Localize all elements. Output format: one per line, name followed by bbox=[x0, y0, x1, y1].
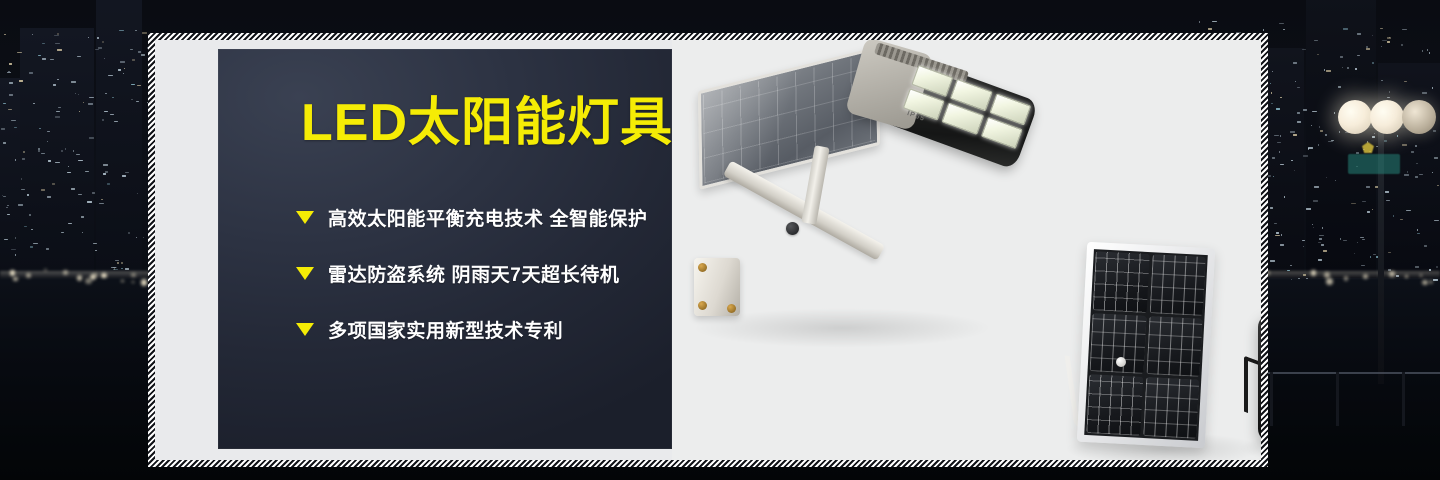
building-window bbox=[1320, 130, 1323, 132]
building-window bbox=[1427, 49, 1428, 51]
building-window bbox=[1401, 44, 1403, 46]
building-window bbox=[138, 51, 141, 53]
building-window bbox=[1272, 157, 1275, 159]
building-window bbox=[141, 54, 145, 56]
shoreline-light bbox=[44, 269, 46, 271]
building-window bbox=[68, 166, 69, 167]
building-window bbox=[1263, 29, 1264, 31]
building-window bbox=[39, 128, 41, 129]
building-window bbox=[108, 75, 113, 76]
building-window bbox=[1303, 274, 1306, 276]
triangle-down-icon bbox=[296, 267, 314, 280]
building-window bbox=[1291, 279, 1292, 280]
bullet-text: 高效太阳能平衡充电技术 全智能保护 bbox=[328, 204, 647, 231]
shoreline-light bbox=[1326, 278, 1333, 285]
building-window bbox=[92, 192, 95, 194]
building-window bbox=[78, 160, 83, 161]
building-window bbox=[1297, 112, 1300, 114]
feature-bullet-list: 高效太阳能平衡充电技术 全智能保护 雷达防盗系统 阴雨天7天超长待机 多项国家实… bbox=[296, 204, 656, 372]
building-window bbox=[38, 55, 41, 56]
product-stage: IP65 bbox=[672, 40, 1261, 460]
building-window bbox=[89, 137, 94, 139]
building-window bbox=[1313, 227, 1314, 228]
building-window bbox=[130, 49, 133, 50]
building-window bbox=[9, 63, 12, 65]
bullet-text: 多项国家实用新型技术专利 bbox=[328, 316, 563, 343]
lamp-globe-icon bbox=[1370, 100, 1404, 134]
building-window bbox=[1319, 126, 1320, 128]
street-light-head: IP65 bbox=[849, 42, 1039, 170]
building-window bbox=[17, 52, 22, 53]
skyline-tower bbox=[20, 28, 94, 278]
building-window bbox=[98, 47, 102, 49]
shoreline-light bbox=[10, 270, 15, 275]
building-window bbox=[88, 103, 93, 105]
building-window bbox=[137, 85, 141, 86]
building-window bbox=[1297, 121, 1301, 123]
building-window bbox=[1380, 28, 1383, 29]
shoreline-light bbox=[101, 273, 106, 278]
floodlight-housing: Solar light 100W IP67 bbox=[1258, 314, 1261, 442]
building-window bbox=[78, 94, 79, 95]
building-window bbox=[115, 260, 119, 261]
building-window bbox=[9, 94, 13, 96]
building-window bbox=[125, 172, 129, 173]
building-window bbox=[1281, 234, 1282, 236]
building-window bbox=[3, 103, 6, 104]
building-window bbox=[71, 188, 75, 190]
bracket-bolt bbox=[727, 304, 736, 313]
building-window bbox=[1268, 175, 1271, 177]
building-window bbox=[1275, 235, 1280, 236]
building-window bbox=[1280, 164, 1284, 165]
panel-hinge bbox=[1116, 357, 1126, 367]
radar-sensor-icon bbox=[786, 222, 799, 235]
building-window bbox=[1270, 260, 1275, 262]
building-window bbox=[1347, 67, 1349, 69]
solar-cell-block bbox=[1146, 316, 1202, 377]
wall-mount-bracket bbox=[694, 258, 740, 316]
building-window bbox=[1422, 50, 1423, 52]
building-window bbox=[1387, 37, 1391, 39]
building-window bbox=[1314, 186, 1319, 188]
building-window bbox=[1357, 33, 1361, 35]
building-window bbox=[53, 84, 56, 86]
building-window bbox=[102, 41, 104, 43]
building-window bbox=[1208, 28, 1212, 30]
building-window bbox=[55, 43, 60, 44]
building-window bbox=[1312, 111, 1317, 112]
building-window bbox=[131, 84, 135, 85]
lamp-globe-icon bbox=[1338, 100, 1372, 134]
building-window bbox=[23, 151, 25, 153]
product-solar-street-light: IP65 bbox=[690, 62, 1020, 332]
headline-panel: LED太阳能灯具 高效太阳能平衡充电技术 全智能保护 雷达防盗系统 阴雨天7天超… bbox=[218, 49, 672, 449]
building-window bbox=[1, 128, 5, 130]
building-window bbox=[102, 119, 104, 121]
building-window bbox=[29, 214, 31, 216]
building-window bbox=[1402, 29, 1407, 30]
building-window bbox=[1303, 109, 1307, 111]
building-window bbox=[8, 109, 12, 110]
building-window bbox=[27, 194, 29, 196]
building-window bbox=[1311, 125, 1312, 126]
building-window bbox=[113, 269, 118, 270]
building-window bbox=[1387, 41, 1390, 43]
page-title: LED太阳能灯具 bbox=[301, 97, 673, 149]
building-window bbox=[1294, 170, 1295, 171]
building-window bbox=[120, 61, 125, 63]
building-window bbox=[87, 201, 92, 203]
building-window bbox=[89, 97, 94, 98]
solar-cell-block bbox=[1093, 251, 1149, 312]
building-window bbox=[1343, 28, 1348, 30]
building-window bbox=[67, 172, 71, 173]
shoreline-light bbox=[141, 279, 148, 286]
building-window bbox=[9, 82, 13, 84]
building-window bbox=[124, 68, 125, 69]
lamp-globe-icon bbox=[1402, 100, 1436, 134]
building-window bbox=[1318, 259, 1322, 261]
building-window bbox=[61, 150, 63, 152]
building-window bbox=[1381, 46, 1382, 47]
building-window bbox=[7, 205, 9, 206]
building-window bbox=[1290, 131, 1295, 133]
building-window bbox=[1340, 56, 1343, 58]
building-window bbox=[1372, 35, 1373, 36]
shoreline-light bbox=[13, 277, 18, 282]
building-window bbox=[33, 103, 35, 104]
building-window bbox=[82, 232, 83, 233]
solar-cell-block bbox=[1149, 254, 1205, 315]
street-lamp-post bbox=[1336, 84, 1440, 384]
building-window bbox=[79, 111, 80, 112]
product-floodlight: Solar light 100W IP67 bbox=[1244, 308, 1261, 453]
railing-post bbox=[1336, 372, 1339, 426]
building-window bbox=[1366, 48, 1370, 50]
building-window bbox=[1321, 244, 1324, 246]
building-window bbox=[114, 121, 118, 122]
building-window bbox=[132, 59, 135, 61]
building-window bbox=[1272, 71, 1273, 72]
building-window bbox=[47, 196, 51, 198]
triangle-down-icon bbox=[296, 211, 314, 224]
street-light-solar-panel bbox=[698, 46, 880, 190]
building-window bbox=[54, 35, 59, 36]
building-window bbox=[1274, 135, 1279, 136]
railing-post bbox=[1402, 372, 1405, 426]
distant-billboard bbox=[1348, 154, 1400, 174]
hatched-border-frame: LED太阳能灯具 高效太阳能平衡充电技术 全智能保护 雷达防盗系统 阴雨天7天超… bbox=[148, 33, 1268, 467]
building-window bbox=[1280, 97, 1282, 98]
product-solar-panel bbox=[1064, 245, 1254, 460]
building-window bbox=[57, 49, 62, 51]
bracket-bolt bbox=[698, 263, 707, 272]
building-window bbox=[41, 189, 45, 191]
building-window bbox=[97, 37, 99, 39]
building-window bbox=[1326, 177, 1327, 178]
building-window bbox=[1280, 244, 1284, 246]
building-window bbox=[41, 153, 45, 154]
building-window bbox=[1271, 103, 1273, 104]
building-window bbox=[107, 183, 110, 185]
building-window bbox=[1212, 21, 1217, 22]
shoreline-light bbox=[63, 270, 68, 275]
bullet-text: 雷达防盗系统 阴雨天7天超长待机 bbox=[328, 260, 619, 287]
building-window bbox=[38, 150, 40, 152]
building-window bbox=[65, 148, 66, 150]
building-window bbox=[1325, 134, 1327, 136]
building-window bbox=[1382, 40, 1387, 41]
building-window bbox=[85, 171, 89, 172]
solar-cell-block bbox=[1086, 374, 1142, 435]
building-window bbox=[83, 102, 84, 103]
building-window bbox=[30, 246, 33, 248]
bracket-bolt bbox=[698, 301, 707, 310]
building-window bbox=[142, 32, 147, 34]
building-window bbox=[1199, 21, 1200, 23]
building-window bbox=[4, 34, 6, 35]
building-window bbox=[121, 262, 123, 264]
building-window bbox=[1293, 62, 1297, 64]
building-window bbox=[11, 120, 16, 121]
list-item: 多项国家实用新型技术专利 bbox=[296, 316, 656, 343]
building-window bbox=[1381, 80, 1383, 81]
building-window bbox=[1429, 52, 1430, 54]
building-window bbox=[11, 249, 16, 250]
building-window bbox=[1279, 23, 1284, 24]
building-window bbox=[1303, 155, 1308, 157]
building-window bbox=[103, 173, 106, 175]
building-window bbox=[1293, 134, 1297, 136]
building-window bbox=[143, 237, 144, 238]
building-window bbox=[1404, 81, 1407, 82]
railing-post bbox=[1270, 372, 1273, 426]
building-window bbox=[118, 69, 121, 71]
frame-inner-surface: LED太阳能灯具 高效太阳能平衡充电技术 全智能保护 雷达防盗系统 阴雨天7天超… bbox=[155, 40, 1261, 460]
building-window bbox=[1313, 200, 1318, 202]
building-window bbox=[48, 160, 51, 162]
building-window bbox=[1323, 250, 1327, 252]
building-window bbox=[57, 79, 59, 80]
building-window bbox=[1306, 208, 1311, 210]
building-window bbox=[1280, 135, 1281, 137]
building-window bbox=[1319, 238, 1322, 240]
building-window bbox=[42, 58, 46, 60]
solar-cell-block bbox=[1143, 377, 1199, 438]
building-window bbox=[1308, 147, 1313, 149]
building-window bbox=[6, 207, 8, 208]
panel-cell-grid bbox=[1084, 249, 1208, 441]
building-window bbox=[21, 189, 25, 190]
building-window bbox=[1283, 29, 1285, 30]
building-window bbox=[117, 262, 119, 264]
panel-frame bbox=[1077, 242, 1215, 448]
triangle-down-icon bbox=[296, 323, 314, 336]
building-window bbox=[7, 72, 11, 73]
building-window bbox=[1306, 278, 1308, 279]
building-window bbox=[1314, 40, 1318, 41]
building-window bbox=[46, 248, 49, 250]
building-window bbox=[76, 154, 80, 155]
list-item: 雷达防盗系统 阴雨天7天超长待机 bbox=[296, 260, 656, 287]
list-item: 高效太阳能平衡充电技术 全智能保护 bbox=[296, 204, 656, 231]
building-window bbox=[103, 164, 108, 166]
building-window bbox=[1355, 68, 1357, 70]
building-window bbox=[1270, 207, 1273, 209]
building-window bbox=[1273, 176, 1274, 177]
